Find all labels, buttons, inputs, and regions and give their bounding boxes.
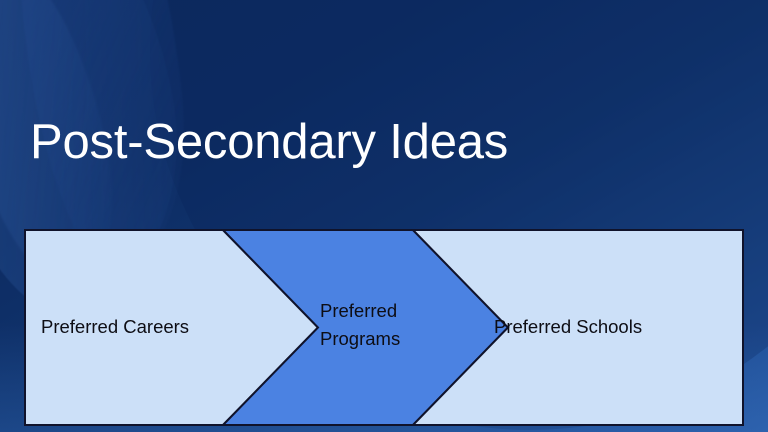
process-diagram-svg: Preferred Careers Preferred Programs Pre… (24, 229, 744, 426)
schools-label: Preferred Schools (494, 316, 642, 337)
slide-title: Post-Secondary Ideas (30, 113, 730, 171)
careers-label: Preferred Careers (41, 316, 189, 337)
process-diagram: Preferred Careers Preferred Programs Pre… (24, 229, 744, 426)
programs-label-line2: Programs (320, 328, 400, 349)
programs-label-line1: Preferred (320, 300, 397, 321)
slide: Post-Secondary Ideas Preferred Careers P… (0, 0, 768, 432)
